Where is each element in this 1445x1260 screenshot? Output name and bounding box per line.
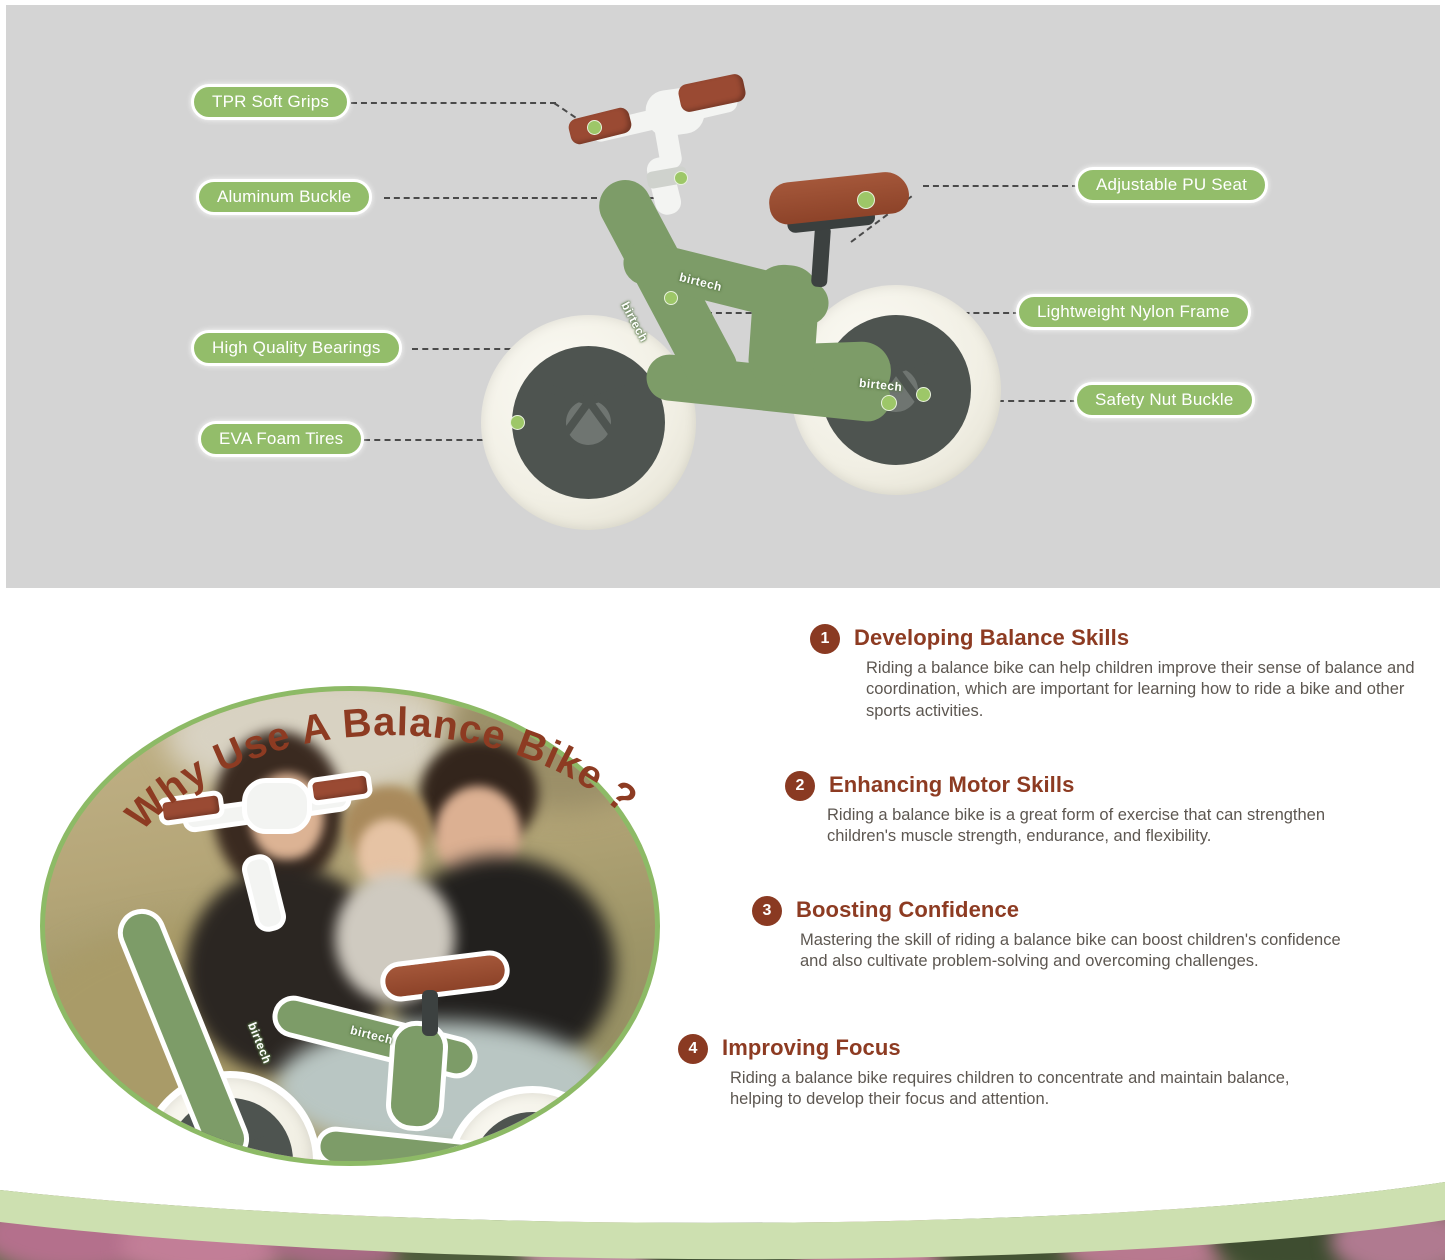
feature-label-aluminum-buckle[interactable]: Aluminum Buckle xyxy=(196,179,372,215)
grip-left-end-cap-icon xyxy=(587,120,602,135)
why-use-balance-bike-section: birtech birtech birtech Why Use A Balanc… xyxy=(0,588,1445,1188)
cutout-brand-logo-fork: birtech xyxy=(245,1020,274,1066)
frame-top-tube xyxy=(619,236,833,329)
feature-label-high-quality-bearings[interactable]: High Quality Bearings xyxy=(191,330,402,366)
benefit-badge-2: 2 xyxy=(785,771,815,801)
feature-label-text: Lightweight Nylon Frame xyxy=(1037,302,1230,322)
benefit-title-3: Boosting Confidence xyxy=(796,897,1019,923)
benefit-body-3: Mastering the skill of riding a balance … xyxy=(800,930,1360,973)
feature-label-safety-nut-buckle[interactable]: Safety Nut Buckle xyxy=(1074,382,1255,418)
benefit-title-4: Improving Focus xyxy=(722,1035,901,1061)
benefit-body-2: Riding a balance bike is a great form of… xyxy=(827,805,1387,848)
benefit-badge-4: 4 xyxy=(678,1034,708,1064)
feature-label-text: Safety Nut Buckle xyxy=(1095,390,1234,410)
bearing-dot-icon xyxy=(510,415,525,430)
wave-divider xyxy=(0,1176,1445,1260)
feature-label-text: EVA Foam Tires xyxy=(219,429,343,449)
benefit-body-4: Riding a balance bike requires children … xyxy=(730,1068,1310,1111)
feature-label-eva-foam-tires[interactable]: EVA Foam Tires xyxy=(198,421,364,457)
benefit-body-1: Riding a balance bike can help children … xyxy=(866,658,1428,722)
seat-cushion xyxy=(767,170,911,226)
feature-label-adjustable-pu-seat[interactable]: Adjustable PU Seat xyxy=(1075,167,1268,203)
benefits-list: 1 Developing Balance Skills Riding a bal… xyxy=(660,606,1420,1166)
feature-label-text: Adjustable PU Seat xyxy=(1096,175,1247,195)
frame-logo-dot-icon xyxy=(664,291,678,305)
product-cutout-balance-bike: birtech birtech birtech xyxy=(130,976,650,1166)
benefit-badge-3: 3 xyxy=(752,896,782,926)
feature-label-text: High Quality Bearings xyxy=(212,338,381,358)
chainstay-logo-dot-icon xyxy=(916,387,931,402)
cutout-handlebar-cover xyxy=(242,778,312,834)
bottom-decorative-band xyxy=(0,1176,1445,1260)
feature-label-text: Aluminum Buckle xyxy=(217,187,351,207)
feature-label-text: TPR Soft Grips xyxy=(212,92,329,112)
aluminum-buckle-dot-icon xyxy=(674,171,688,185)
feature-label-lightweight-nylon-frame[interactable]: Lightweight Nylon Frame xyxy=(1016,294,1251,330)
feature-panel: birtech birtech birtech TPR Soft Grips A… xyxy=(6,5,1440,588)
safety-nut-buckle-dot-icon xyxy=(881,395,897,411)
product-image-balance-bike: birtech birtech birtech xyxy=(461,65,1021,545)
feature-label-tpr-soft-grips[interactable]: TPR Soft Grips xyxy=(191,84,350,120)
seat-logo-dot-icon xyxy=(857,191,875,209)
benefit-title-1: Developing Balance Skills xyxy=(854,625,1129,651)
cutout-seat-post xyxy=(422,990,438,1036)
seat-post xyxy=(811,225,831,288)
lifestyle-photo-oval: birtech birtech birtech xyxy=(40,686,660,1166)
benefit-title-2: Enhancing Motor Skills xyxy=(829,772,1074,798)
benefit-badge-1: 1 xyxy=(810,624,840,654)
